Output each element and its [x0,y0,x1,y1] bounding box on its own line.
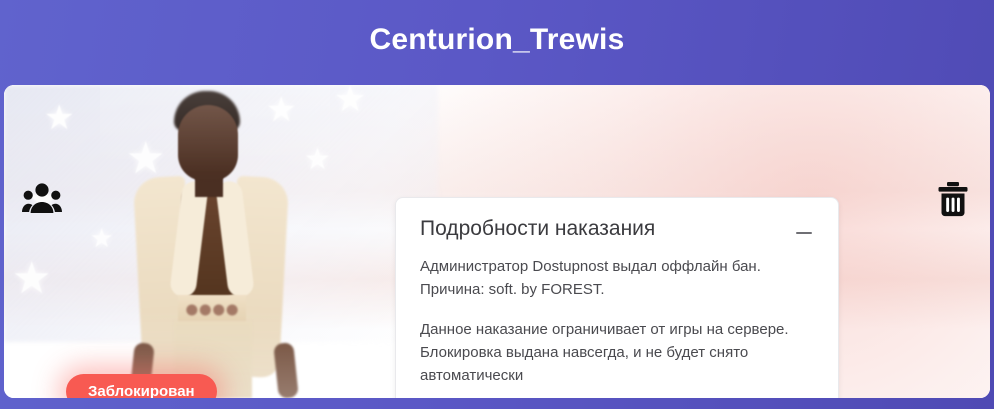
status-badge: Заблокирован [66,374,217,398]
users-group-icon[interactable] [22,181,62,215]
trash-icon[interactable] [936,181,970,217]
flag-star: ★ [44,101,74,135]
character-fade-overlay [100,85,330,398]
page-header: Centurion_Trewis [0,0,994,85]
details-header: Подробности наказания [420,216,814,243]
character-avatar [100,85,330,398]
player-panel: ★ ★ ★ ★ ★ ★ ★ ★ ★ ★ [4,85,990,398]
punishment-details-card: Подробности наказания Администратор Dost… [395,197,839,398]
details-title: Подробности наказания [420,216,655,241]
page-title: Centurion_Trewis [370,25,625,61]
minus-icon[interactable] [794,223,814,243]
flag-star: ★ [334,85,366,117]
app-root: Centurion_Trewis ★ ★ ★ ★ ★ ★ ★ ★ ★ ★ [0,0,994,409]
punishment-reason-text: Администратор Dostupnost выдал оффлайн б… [420,255,800,302]
flag-star: ★ [12,257,51,301]
punishment-description-text: Данное наказание ограничивает от игры на… [420,318,800,388]
